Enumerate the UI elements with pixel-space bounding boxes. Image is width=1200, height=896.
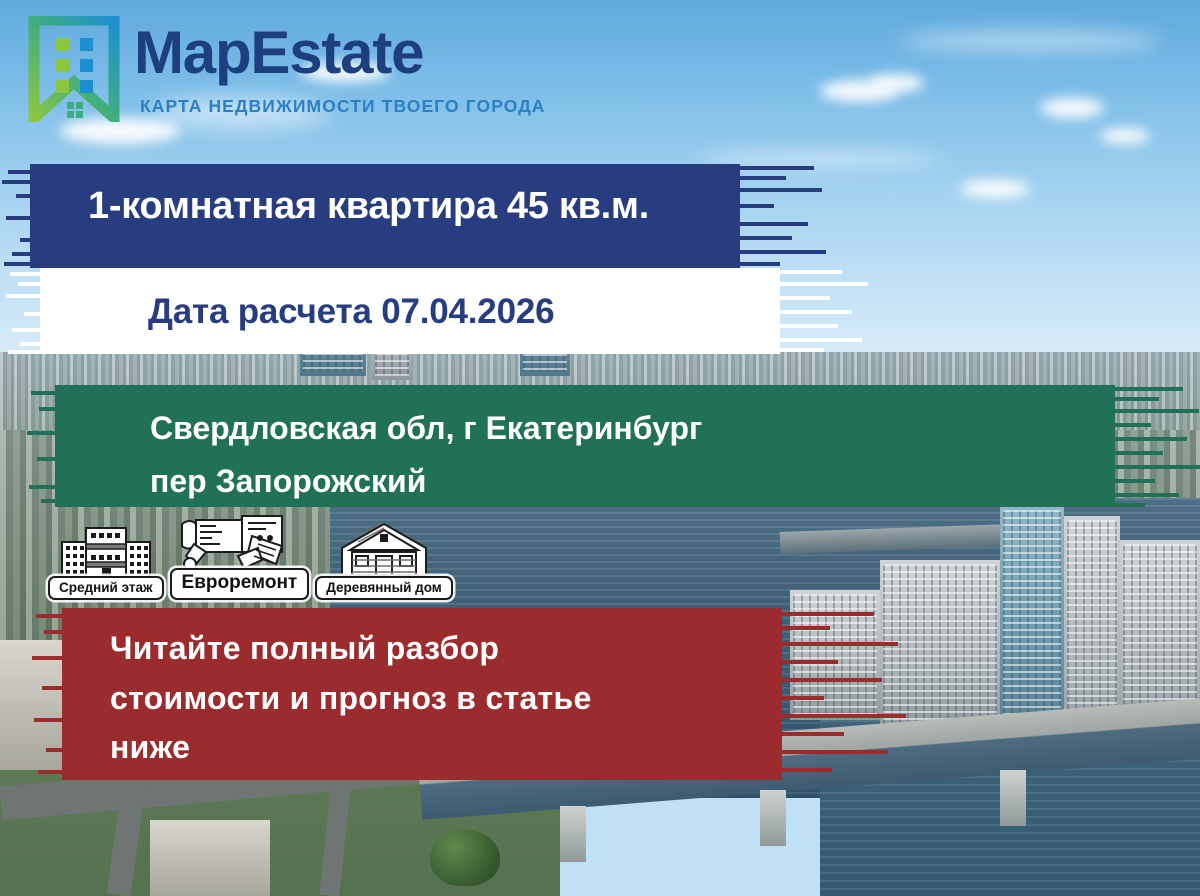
cta-text: Читайте полный разбор стоимости и прогно… xyxy=(110,624,750,773)
residential-block xyxy=(880,560,1000,730)
badge-wooden-house[interactable]: Деревянный дом xyxy=(315,524,453,600)
cloud-icon xyxy=(960,180,1030,198)
cloud-icon xyxy=(900,30,1160,52)
address-line-2: пер Запорожский xyxy=(150,455,1090,508)
brand-name: MapEstate xyxy=(134,18,423,87)
bridge-pier xyxy=(560,806,586,862)
wooden-house-icon xyxy=(332,524,436,580)
badge-euro-renovation[interactable]: Евроремонт xyxy=(170,516,310,600)
bookmark-building-icon xyxy=(28,16,120,122)
promo-poster: MapEstate КАРТА НЕДВИЖИМОСТИ ТВОЕГО ГОРО… xyxy=(0,0,1200,896)
badge-label: Средний этаж xyxy=(48,576,164,600)
renovation-tools-icon xyxy=(180,516,298,572)
badge-label: Евроремонт xyxy=(170,568,310,600)
building xyxy=(150,820,270,896)
address-line-1: Свердловская обл, г Екатеринбург xyxy=(150,402,1090,455)
brand-tagline: КАРТА НЕДВИЖИМОСТИ ТВОЕГО ГОРОДА xyxy=(140,96,546,117)
cloud-icon xyxy=(1040,98,1104,118)
apartment-title: 1-комнатная квартира 45 кв.м. xyxy=(88,186,748,228)
cta-line-1: Читайте полный разбор xyxy=(110,624,750,674)
feature-badges: Средний этаж xyxy=(48,516,453,600)
bridge-pier xyxy=(1000,770,1026,826)
badge-middle-floor[interactable]: Средний этаж xyxy=(48,524,164,600)
cta-line-3: ниже xyxy=(110,723,750,773)
calculation-date: Дата расчета 07.04.2026 xyxy=(148,292,768,332)
apartment-buildings-icon xyxy=(58,524,154,580)
brand-logo[interactable]: MapEstate КАРТА НЕДВИЖИМОСТИ ТВОЕГО ГОРО… xyxy=(28,14,548,126)
tree xyxy=(430,830,500,886)
cta-line-2: стоимости и прогноз в статье xyxy=(110,674,750,724)
badge-label: Деревянный дом xyxy=(315,576,453,600)
cloud-icon xyxy=(1100,128,1150,144)
cloud-icon xyxy=(870,74,924,92)
residential-block xyxy=(790,590,880,720)
bridge-pier xyxy=(760,790,786,846)
property-address: Свердловская обл, г Екатеринбург пер Зап… xyxy=(150,402,1090,508)
